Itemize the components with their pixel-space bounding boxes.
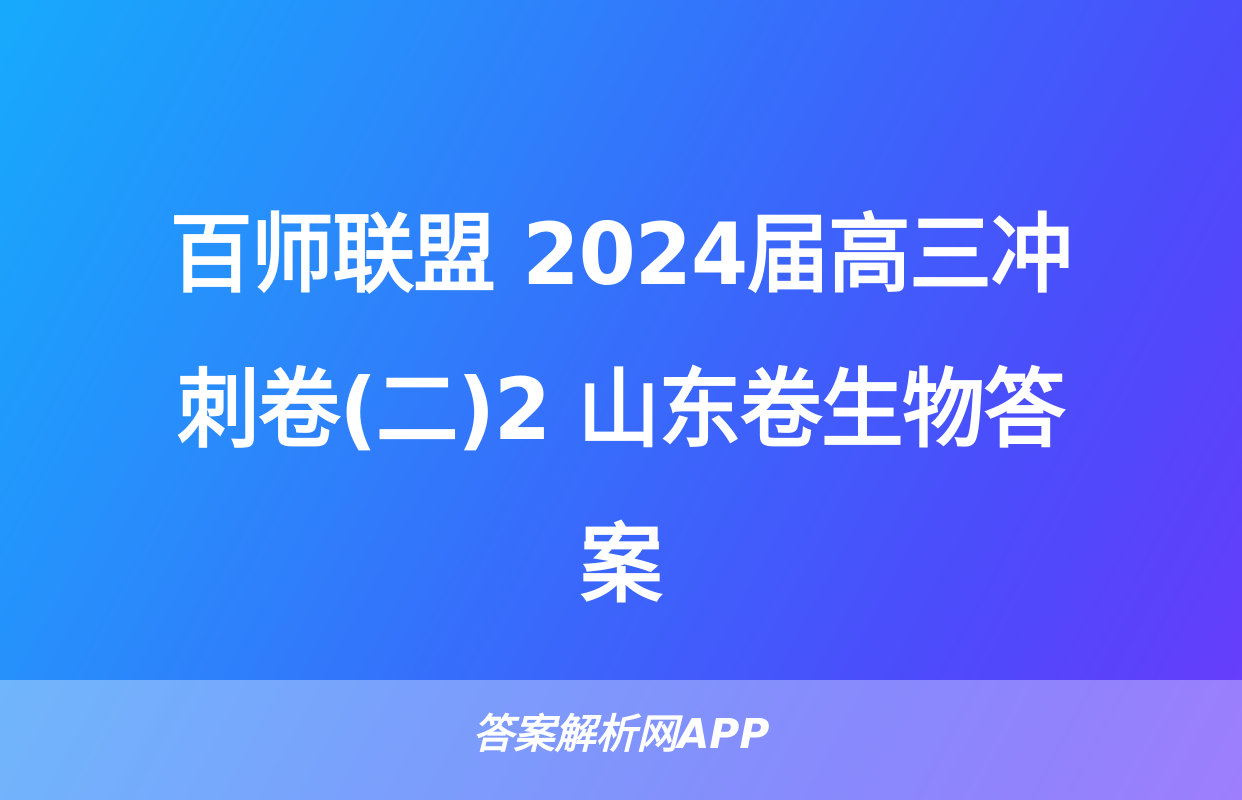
page-title: 百师联盟 2024届高三冲 刺卷(二)2 山东卷生物答 案 (78, 178, 1164, 643)
app-name-label: 答案解析网APP (473, 706, 770, 762)
footer-watermark: 答案解析网APP (0, 706, 1242, 762)
title-line-1: 百师联盟 2024届高三冲 (102, 178, 1139, 333)
title-card: 百师联盟 2024届高三冲 刺卷(二)2 山东卷生物答 案 答案解析网APP (0, 0, 1242, 800)
title-line-2: 刺卷(二)2 山东卷生物答 (102, 333, 1139, 488)
title-line-3: 案 (102, 488, 1139, 643)
